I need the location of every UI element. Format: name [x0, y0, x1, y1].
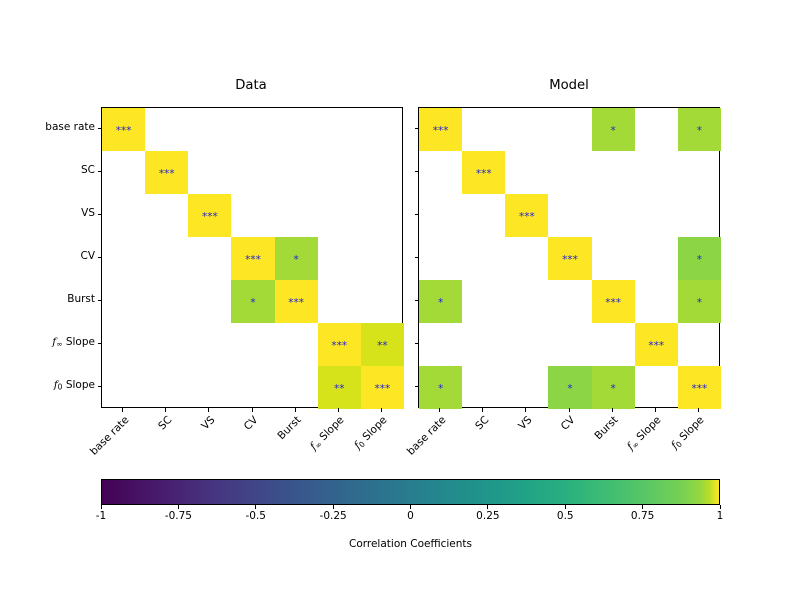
heatmap-cell: ***	[275, 280, 318, 323]
colorbar-tick-label-3: -0.25	[303, 510, 363, 522]
x-tick-data-2	[208, 408, 209, 412]
significance-stars: ***	[116, 126, 132, 137]
colorbar-tick-5	[487, 505, 488, 509]
significance-stars: ***	[202, 212, 218, 223]
heatmap-panel-data: ***************************	[101, 107, 403, 408]
significance-stars: *	[697, 255, 702, 266]
significance-stars: ***	[375, 384, 391, 395]
significance-stars: *	[567, 384, 572, 395]
significance-stars: ***	[476, 169, 492, 180]
heatmap-cell: ***	[188, 194, 231, 237]
significance-stars: *	[697, 298, 702, 309]
significance-stars: **	[334, 384, 345, 395]
y-tick-label-1: SC	[5, 164, 95, 176]
colorbar-tick-8	[720, 505, 721, 509]
significance-stars: ***	[288, 298, 304, 309]
significance-stars: ***	[562, 255, 578, 266]
y-tick-data-1	[98, 171, 102, 172]
colorbar-tick-label-7: 0.75	[613, 510, 673, 522]
significance-stars: ***	[692, 384, 708, 395]
colorbar-tick-3	[333, 505, 334, 509]
correlation-heatmap-figure: Data *************************** Model *…	[0, 0, 800, 600]
colorbar-tick-label-5: 0.25	[458, 510, 518, 522]
significance-stars: ***	[648, 341, 664, 352]
heatmap-cell: ***	[361, 366, 404, 409]
y-tick-data-6	[98, 386, 102, 387]
heatmap-cell: **	[361, 323, 404, 366]
colorbar-tick-label-8: 1	[690, 510, 750, 522]
heatmap-cell: *	[592, 108, 635, 151]
colorbar-container	[101, 479, 720, 505]
significance-stars: **	[377, 341, 388, 352]
heatmap-cell: ***	[548, 237, 591, 280]
significance-stars: *	[611, 126, 616, 137]
y-tick-label-5: f∞ Slope	[5, 336, 95, 349]
x-tick-model-5	[655, 408, 656, 412]
colorbar-tick-label-0: -1	[71, 510, 131, 522]
significance-stars: ***	[159, 169, 175, 180]
y-tick-data-4	[98, 300, 102, 301]
x-tick-data-3	[252, 408, 253, 412]
colorbar-tick-label-6: 0.5	[535, 510, 595, 522]
significance-stars: ***	[245, 255, 261, 266]
colorbar-tick-label-4: 0	[381, 510, 441, 522]
y-tick-model-3	[415, 257, 419, 258]
x-tick-data-4	[295, 408, 296, 412]
colorbar-gradient	[101, 479, 720, 505]
heatmap-cell: *	[678, 108, 721, 151]
heatmap-cell: *	[678, 237, 721, 280]
y-tick-model-1	[415, 171, 419, 172]
y-tick-data-3	[98, 257, 102, 258]
heatmap-cell: ***	[678, 366, 721, 409]
heatmap-cell: *	[231, 280, 274, 323]
heatmap-cell: *	[419, 366, 462, 409]
y-tick-data-2	[98, 214, 102, 215]
heatmap-cell: *	[592, 366, 635, 409]
heatmap-grid-model: *****************************	[419, 108, 719, 407]
colorbar-tick-0	[101, 505, 102, 509]
significance-stars: ***	[519, 212, 535, 223]
heatmap-cell: ***	[102, 108, 145, 151]
heatmap-cell: **	[318, 366, 361, 409]
colorbar-tick-2	[255, 505, 256, 509]
x-tick-model-0	[439, 408, 440, 412]
panel-title-model: Model	[469, 78, 669, 93]
heatmap-cell: *	[548, 366, 591, 409]
heatmap-cell: ***	[318, 323, 361, 366]
x-tick-data-1	[165, 408, 166, 412]
heatmap-cell: *	[419, 280, 462, 323]
x-tick-data-0	[122, 408, 123, 412]
colorbar-axis-label: Correlation Coefficients	[101, 538, 720, 550]
x-tick-model-3	[569, 408, 570, 412]
y-tick-model-2	[415, 214, 419, 215]
x-tick-model-1	[482, 408, 483, 412]
heatmap-cell: ***	[592, 280, 635, 323]
heatmap-cell: *	[678, 280, 721, 323]
significance-stars: *	[438, 298, 443, 309]
significance-stars: ***	[433, 126, 449, 137]
y-tick-model-5	[415, 343, 419, 344]
heatmap-cell: ***	[635, 323, 678, 366]
heatmap-cell: ***	[462, 151, 505, 194]
significance-stars: ***	[605, 298, 621, 309]
y-tick-label-3: CV	[5, 250, 95, 262]
significance-stars: *	[611, 384, 616, 395]
colorbar-tick-label-1: -0.75	[148, 510, 208, 522]
x-tick-data-6	[381, 408, 382, 412]
y-tick-label-6: f0 Slope	[5, 379, 95, 392]
significance-stars: *	[697, 126, 702, 137]
x-tick-model-4	[612, 408, 613, 412]
x-tick-model-2	[525, 408, 526, 412]
y-tick-data-0	[98, 128, 102, 129]
colorbar-tick-1	[178, 505, 179, 509]
heatmap-panel-model: *****************************	[418, 107, 720, 408]
significance-stars: *	[294, 255, 299, 266]
heatmap-cell: ***	[145, 151, 188, 194]
y-tick-label-2: VS	[5, 207, 95, 219]
y-tick-model-4	[415, 300, 419, 301]
x-tick-model-6	[698, 408, 699, 412]
y-tick-model-6	[415, 386, 419, 387]
y-tick-data-5	[98, 343, 102, 344]
heatmap-cell: *	[275, 237, 318, 280]
x-tick-data-5	[338, 408, 339, 412]
significance-stars: ***	[331, 341, 347, 352]
heatmap-cell: ***	[419, 108, 462, 151]
colorbar-tick-7	[642, 505, 643, 509]
significance-stars: *	[438, 384, 443, 395]
heatmap-grid-data: ***************************	[102, 108, 402, 407]
colorbar-tick-6	[565, 505, 566, 509]
colorbar-tick-label-2: -0.5	[226, 510, 286, 522]
y-tick-label-4: Burst	[5, 293, 95, 305]
colorbar-tick-4	[410, 505, 411, 509]
significance-stars: *	[250, 298, 255, 309]
y-tick-model-0	[415, 128, 419, 129]
heatmap-cell: ***	[505, 194, 548, 237]
heatmap-cell: ***	[231, 237, 274, 280]
y-tick-label-0: base rate	[5, 121, 95, 133]
panel-title-data: Data	[151, 78, 351, 93]
